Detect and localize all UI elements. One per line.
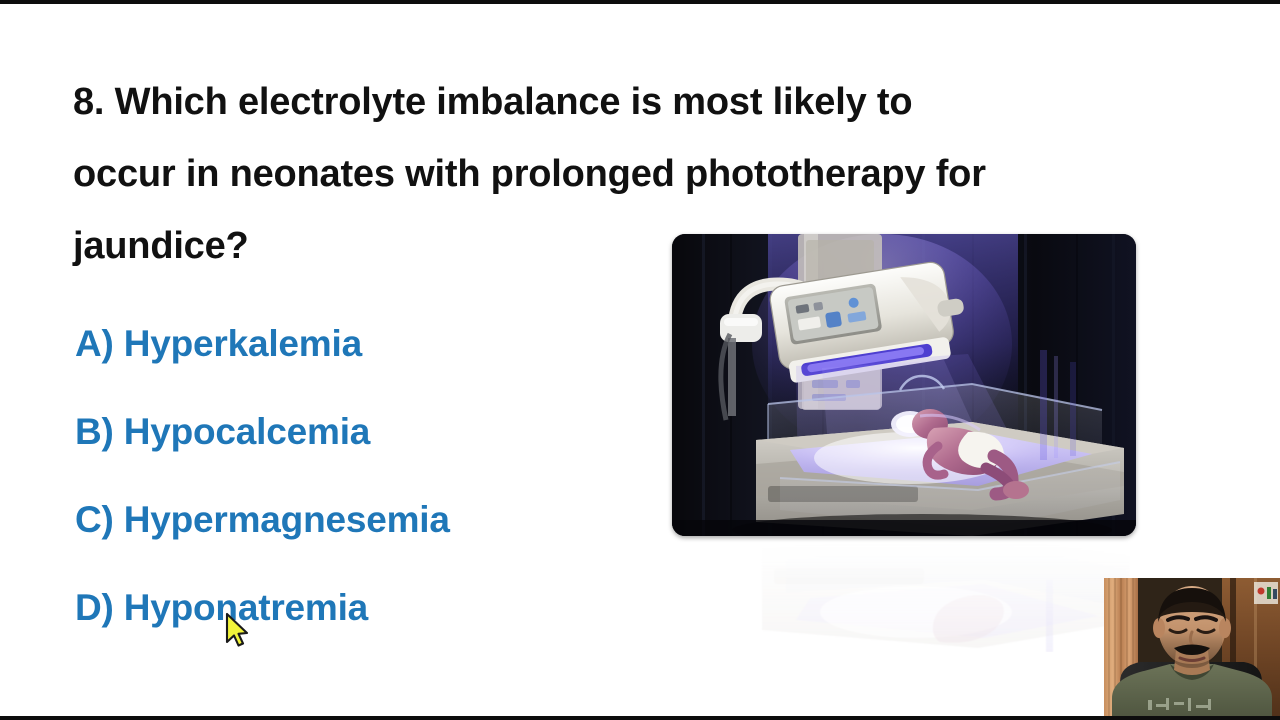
question-line-1: 8. Which electrolyte imbalance is most l… [73,66,1163,138]
option-d[interactable]: D) Hyponatremia [75,564,695,652]
photo-reflection [678,534,1130,652]
presenter-webcam-overlay[interactable] [1104,578,1280,720]
answer-options-list: A) Hyperkalemia B) Hypocalcemia C) Hyper… [75,300,695,652]
option-b[interactable]: B) Hypocalcemia [75,388,695,476]
illustration-container [672,234,1136,536]
option-c[interactable]: C) Hypermagnesemia [75,476,695,564]
question-line-2: occur in neonates with prolonged phototh… [73,138,1163,210]
letterbox-bottom-bar [0,716,1280,720]
mouse-pointer-cursor [224,612,250,650]
letterbox-top-bar [0,0,1280,4]
slide-screen: 8. Which electrolyte imbalance is most l… [0,0,1280,720]
neonatal-phototherapy-photo [672,234,1136,536]
option-a[interactable]: A) Hyperkalemia [75,300,695,388]
